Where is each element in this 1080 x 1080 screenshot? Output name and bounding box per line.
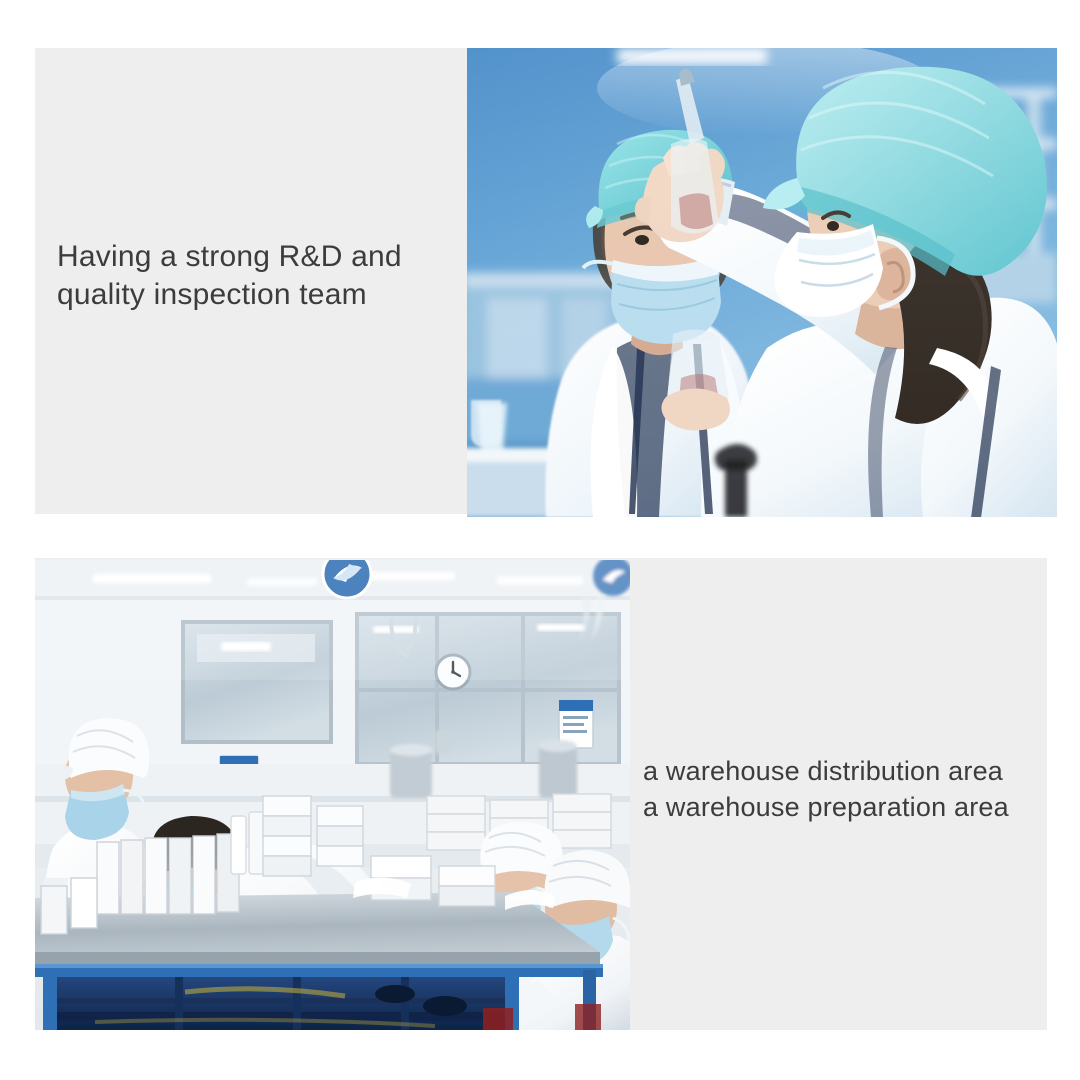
bottom-caption-text: a warehouse distribution area a warehous…: [643, 754, 1043, 826]
lab-inspection-photo: [467, 48, 1057, 517]
packing-table: [35, 892, 603, 1030]
poster-root: Having a strong R&D and quality inspecti…: [0, 0, 1080, 1080]
lab-inspection-illustration: [467, 48, 1057, 517]
top-section: Having a strong R&D and quality inspecti…: [0, 0, 1080, 530]
warehouse-packing-illustration: [35, 560, 630, 1030]
top-caption-text: Having a strong R&D and quality inspecti…: [57, 238, 457, 315]
warehouse-packing-photo: [35, 560, 630, 1030]
